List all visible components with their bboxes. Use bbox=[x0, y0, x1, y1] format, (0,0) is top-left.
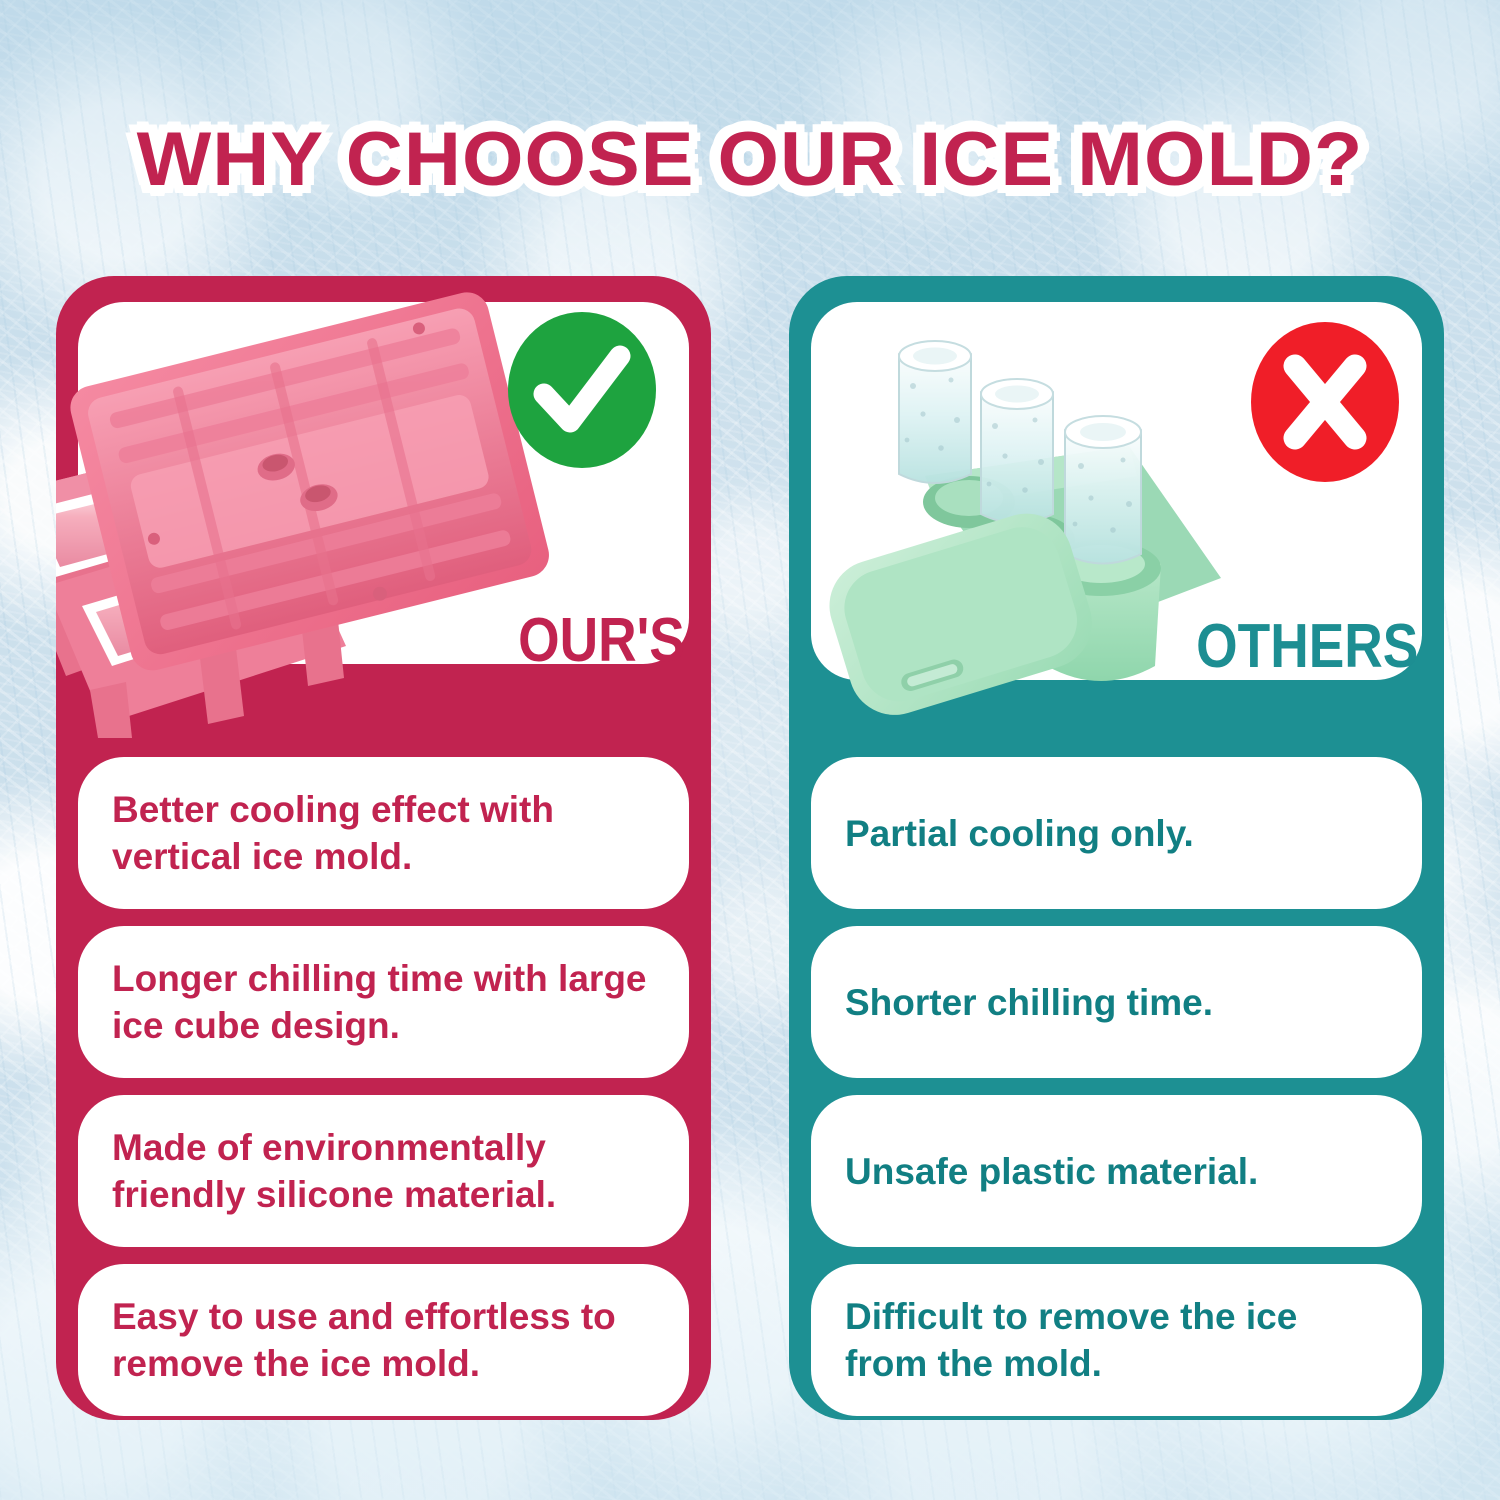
list-item-text: Easy to use and effortless to remove the… bbox=[112, 1293, 655, 1387]
list-item: Easy to use and effortless to remove the… bbox=[78, 1264, 689, 1416]
list-item-text: Shorter chilling time. bbox=[845, 979, 1388, 1026]
list-item: Made of environmentally friendly silicon… bbox=[78, 1095, 689, 1247]
brand-label-row-ours: OUR'S bbox=[491, 610, 685, 672]
list-item-text: Partial cooling only. bbox=[845, 810, 1388, 857]
list-item-text: Better cooling effect with vertical ice … bbox=[112, 786, 655, 880]
cross-icon bbox=[1251, 322, 1399, 482]
page-title: WHY CHOOSE OUR ICE MOLD? bbox=[0, 118, 1500, 202]
list-item: Longer chilling time with large ice cube… bbox=[78, 926, 689, 1078]
list-item-text: Difficult to remove the ice from the mol… bbox=[845, 1293, 1388, 1387]
comparison-panel-others: OTHERS Partial cooling only. Shorter chi… bbox=[789, 276, 1444, 1420]
list-item: Better cooling effect with vertical ice … bbox=[78, 757, 689, 909]
list-item: Unsafe plastic material. bbox=[811, 1095, 1422, 1247]
list-item-text: Longer chilling time with large ice cube… bbox=[112, 955, 655, 1049]
list-item-text: Made of environmentally friendly silicon… bbox=[112, 1124, 655, 1218]
list-item-text: Unsafe plastic material. bbox=[845, 1148, 1388, 1195]
infographic-canvas: WHY CHOOSE OUR ICE MOLD? bbox=[0, 0, 1500, 1500]
comparison-panel-ours: OUR'S Better cooling effect with vertica… bbox=[56, 276, 711, 1420]
list-item: Partial cooling only. bbox=[811, 757, 1422, 909]
checkmark-icon bbox=[508, 312, 656, 468]
list-item: Difficult to remove the ice from the mol… bbox=[811, 1264, 1422, 1416]
list-item: Shorter chilling time. bbox=[811, 926, 1422, 1078]
brand-label-ours: OUR'S bbox=[518, 610, 685, 672]
brand-label-others: OTHERS bbox=[1196, 616, 1418, 678]
brand-label-row-others: OTHERS bbox=[1160, 616, 1418, 678]
